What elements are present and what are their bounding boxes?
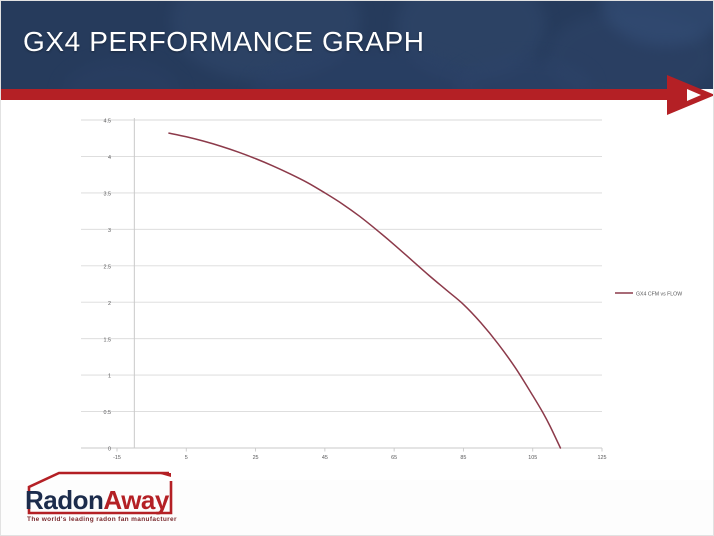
y-tick-label: 3	[108, 228, 111, 234]
y-tick-label: 2	[108, 301, 111, 307]
series-line	[169, 133, 560, 448]
chart-gridlines	[81, 120, 602, 448]
page-title: GX4 PERFORMANCE GRAPH	[23, 26, 425, 58]
chart-legend: GX4 CFM vs FLOW	[615, 291, 682, 297]
x-tick-label: 25	[253, 455, 259, 461]
x-tick-label: 5	[185, 455, 188, 461]
y-tick-label: 4.5	[104, 119, 112, 125]
x-tick-label: -15	[113, 455, 121, 461]
y-tick-label: 0.5	[104, 410, 112, 416]
x-tick-label: 65	[391, 455, 397, 461]
y-tick-label: 2.5	[104, 264, 112, 270]
y-tick-label: 0	[108, 447, 111, 453]
y-tick-label: 4	[108, 155, 111, 161]
chart-axes	[81, 118, 602, 448]
chart-series	[169, 133, 560, 448]
logo-tagline: The world's leading radon fan manufactur…	[27, 516, 177, 523]
chart-x-axis-labels: -15525456585105125	[113, 448, 606, 461]
y-tick-label: 1.5	[104, 337, 112, 343]
accent-arrow-notch	[687, 89, 701, 101]
accent-bar	[1, 89, 691, 100]
header-texture-blob	[61, 59, 181, 89]
radonaway-logo: RadonAway The world's leading radon fan …	[19, 471, 199, 529]
logo-wordmark: RadonAway	[25, 487, 169, 513]
legend-label: GX4 CFM vs FLOW	[636, 291, 682, 297]
y-tick-label: 3.5	[104, 191, 112, 197]
x-tick-label: 105	[528, 455, 537, 461]
x-tick-label: 85	[460, 455, 466, 461]
slide: GX4 PERFORMANCE GRAPH 00.511.522.533.544…	[0, 0, 714, 536]
chart-canvas: 00.511.522.533.544.5 -15525456585105125 …	[1, 100, 714, 480]
y-tick-label: 1	[108, 374, 111, 380]
logo-word-away: Away	[103, 485, 168, 515]
x-tick-label: 125	[598, 455, 607, 461]
x-tick-label: 45	[322, 455, 328, 461]
logo-word-radon: Radon	[25, 485, 103, 515]
performance-chart: 00.511.522.533.544.5 -15525456585105125 …	[1, 100, 714, 480]
chart-y-axis-labels: 00.511.522.533.544.5	[104, 119, 112, 453]
